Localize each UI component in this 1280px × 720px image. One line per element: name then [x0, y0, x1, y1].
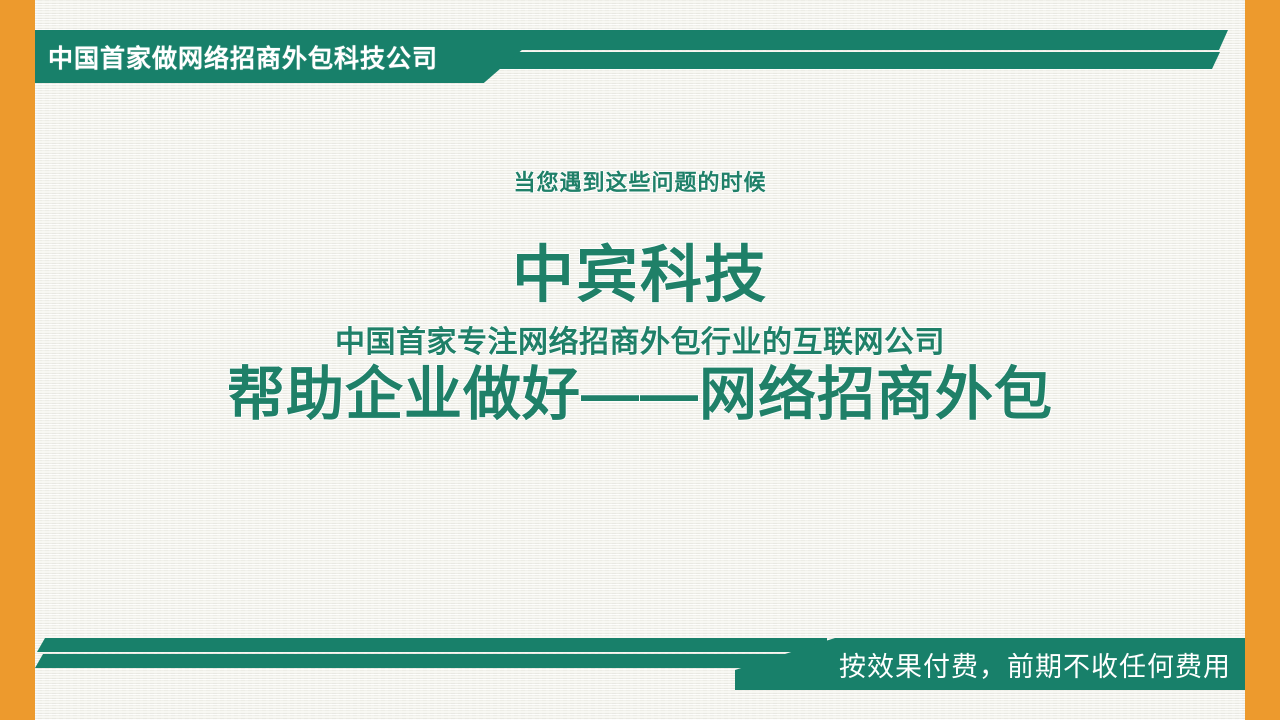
header-title-block: 中国首家做网络招商外包科技公司	[35, 30, 545, 83]
footer-text: 按效果付费，前期不收任何费用	[839, 645, 1245, 684]
slide-canvas	[35, 0, 1245, 720]
presentation-slide: 中国首家做网络招商外包科技公司 当您遇到这些问题的时候 中宾科技 中国首家专注网…	[0, 0, 1280, 720]
footer-banner: 按效果付费，前期不收任何费用	[35, 634, 1245, 694]
header-title: 中国首家做网络招商外包科技公司	[35, 39, 438, 75]
footer-text-block: 按效果付费，前期不收任何费用	[735, 638, 1245, 690]
header-banner: 中国首家做网络招商外包科技公司	[35, 28, 1245, 86]
footer-stripe-upper	[37, 638, 827, 652]
footer-stripe-lower	[35, 654, 827, 668]
